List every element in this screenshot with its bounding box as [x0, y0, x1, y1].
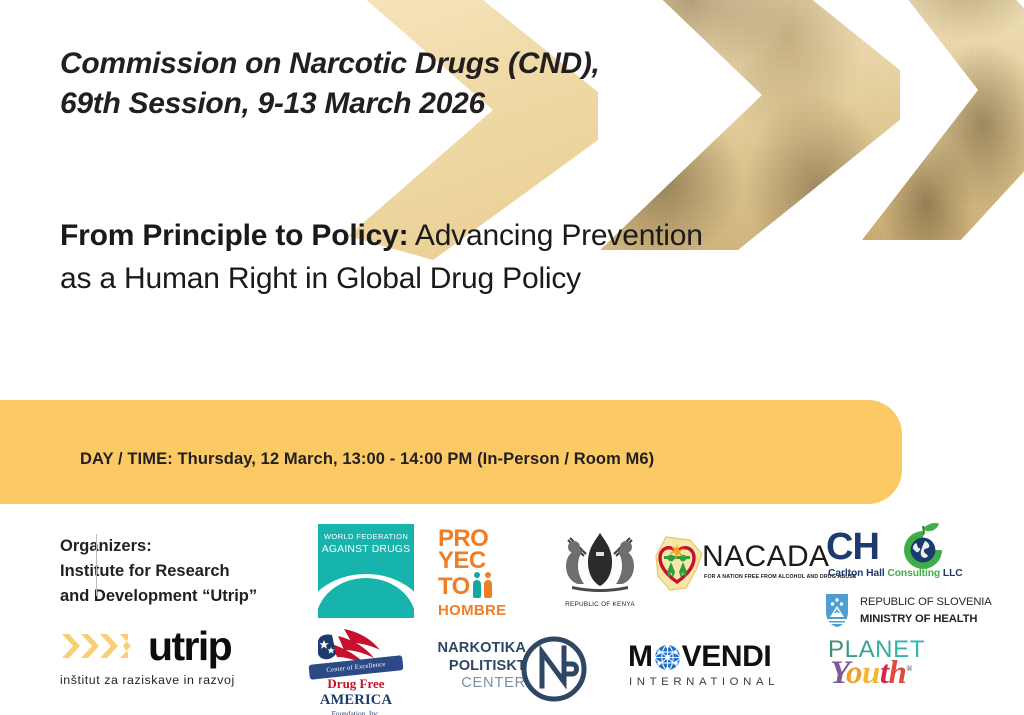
- logo-planet-youth: PLANET Youth®: [828, 638, 948, 704]
- event-title-strong: From Principle to Policy:: [60, 219, 408, 252]
- event-title: From Principle to Policy: Advancing Prev…: [60, 215, 900, 300]
- npc-monogram-icon: [518, 636, 590, 702]
- utrip-wordmark: utrip: [148, 627, 231, 666]
- chevron-photo-panel-left: [600, 0, 900, 250]
- flyer-canvas: Commission on Narcotic Drugs (CND), 69th…: [0, 0, 1024, 715]
- proyecto-stack: PRO YEC TO: [438, 528, 534, 598]
- logo-carlton-hall-consulting: CH Carlton Hall Consulting LLC: [826, 528, 996, 586]
- chc-sub-green: Consulting: [887, 568, 943, 579]
- proyecto-line4: HOMBRE: [438, 602, 534, 619]
- movendi-word-b: VENDI: [682, 642, 772, 672]
- logo-proyecto-hombre: PRO YEC TO HOMBRE: [438, 528, 534, 616]
- chc-globe-apple-icon: [894, 522, 950, 574]
- chc-subtitle: Carlton Hall Consulting LLC: [828, 568, 963, 579]
- kenya-caption: REPUBLIC OF KENYA: [554, 601, 646, 608]
- proyecto-line3: TO: [438, 576, 470, 598]
- logo-slovenia-ministry-of-health: REPUBLIC OF SLOVENIA MINISTRY OF HEALTH: [824, 592, 1024, 632]
- utrip-tagline: inštitut za raziskave in razvoj: [60, 673, 310, 687]
- utrip-chevron-mark: [60, 631, 138, 661]
- proyecto-line2: YEC: [438, 550, 534, 572]
- chc-sub-navy2: LLC: [943, 568, 963, 579]
- planet-youth-registered: ®: [906, 664, 911, 673]
- npc-text: NARKOTIKA POLITISKT CENTER: [430, 640, 526, 693]
- dfa-line3: Foundation, Inc.: [306, 709, 406, 715]
- event-title-regular: Advancing Prevention: [408, 219, 702, 252]
- organizers-label: Organizers: Institute for Research and D…: [60, 534, 320, 608]
- npc-line2: POLITISKT: [430, 658, 526, 676]
- logo-movendi-international: M V: [628, 642, 804, 692]
- logo-drug-free-america-foundation: Center of Excellence Drug Free AMERICA F…: [306, 628, 406, 714]
- logo-utrip: utrip inštitut za raziskave in razvoj: [60, 627, 310, 687]
- logo-republic-of-kenya: REPUBLIC OF KENYA: [554, 530, 646, 608]
- kenya-coat-of-arms-icon: [554, 530, 646, 592]
- slovenia-coat-of-arms-icon: [824, 592, 850, 628]
- movendi-subtitle: INTERNATIONAL: [629, 676, 804, 688]
- photo-grain-overlay: [600, 0, 900, 250]
- photo-grain-overlay: [862, 0, 1024, 240]
- photo-image-person: [862, 0, 1024, 240]
- kenya-nacada-divider: [96, 534, 97, 596]
- dfa-line1: Drug Free: [306, 676, 406, 692]
- dfa-line2: AMERICA: [306, 692, 406, 709]
- slovenia-line2: MINISTRY OF HEALTH: [860, 611, 992, 628]
- slovenia-line1: REPUBLIC OF SLOVENIA: [860, 594, 992, 611]
- event-title-line2: as a Human Right in Global Drug Policy: [60, 262, 581, 295]
- nacada-kenya-map-icon: [650, 534, 708, 594]
- wfad-line1: WORLD FEDERATION: [324, 532, 408, 541]
- npc-line1: NARKOTIKA: [430, 640, 526, 658]
- movendi-globe-icon: [654, 644, 681, 671]
- logo-nacada: NACADA FOR A NATION FREE FROM ALCOHOL AN…: [650, 534, 816, 596]
- photo-image-embrace: [600, 0, 900, 250]
- movendi-wordmark: M V: [628, 642, 804, 672]
- proyecto-people-icon: [473, 572, 495, 598]
- chevron-photo-panel-right: [862, 0, 1024, 240]
- datetime-banner-text: DAY / TIME: Thursday, 12 March, 13:00 - …: [80, 450, 654, 469]
- chc-sub-navy: Carlton Hall: [828, 568, 887, 579]
- logo-world-federation-against-drugs: WORLD FEDERATION AGAINST DRUGS: [318, 524, 414, 618]
- npc-line3: CENTER: [430, 675, 526, 693]
- nacada-wordmark: NACADA: [702, 542, 829, 572]
- wfad-line2: AGAINST DRUGS: [322, 544, 410, 555]
- movendi-word-a: M: [628, 642, 653, 672]
- chc-wordmark: CH: [826, 528, 879, 566]
- logo-narkotika-politiskt-center: NARKOTIKA POLITISKT CENTER: [430, 636, 610, 702]
- planet-youth-line2: Youth®: [830, 657, 948, 690]
- session-heading: Commission on Narcotic Drugs (CND), 69th…: [60, 44, 760, 124]
- slovenia-text: REPUBLIC OF SLOVENIA MINISTRY OF HEALTH: [860, 594, 992, 628]
- wfad-text: WORLD FEDERATION AGAINST DRUGS: [318, 531, 414, 558]
